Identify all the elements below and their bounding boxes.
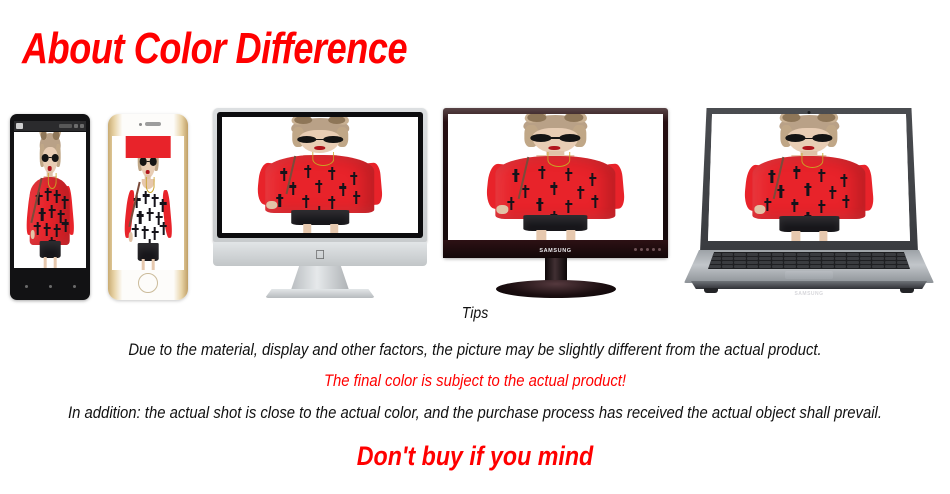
color-difference-banner: About Color Difference	[0, 0, 950, 494]
laptop-foot-right	[900, 288, 914, 293]
model-lips	[48, 166, 52, 170]
imac-screen	[222, 117, 418, 233]
model-figure	[746, 114, 871, 241]
control-button-2[interactable]	[640, 248, 643, 251]
page-title: About Color Difference	[22, 27, 407, 71]
iphone-screen	[112, 136, 184, 270]
imac-stand-neck	[291, 266, 349, 290]
laptop-trackpad[interactable]	[785, 271, 833, 279]
monitor-screen	[448, 114, 663, 240]
model-lips	[549, 146, 561, 150]
back-button-icon[interactable]	[73, 285, 76, 288]
notice-line-3: In addition: the actual shot is close to…	[48, 405, 903, 422]
model-figure	[126, 136, 171, 270]
product-photo	[222, 117, 418, 233]
laptop-keyboard[interactable]	[708, 252, 910, 269]
webcam-icon	[808, 111, 811, 114]
power-button[interactable]	[658, 248, 661, 251]
model-figure	[259, 117, 381, 233]
leather-skirt	[39, 241, 60, 259]
laptop-front-edge	[686, 281, 932, 289]
imac-screen-frame	[217, 112, 423, 238]
red-cross-top	[126, 136, 171, 158]
leather-skirt	[779, 216, 839, 233]
product-photo	[448, 114, 663, 240]
control-button-3[interactable]	[646, 248, 649, 251]
status-indicators	[59, 124, 84, 128]
imac-chin: 	[213, 242, 427, 266]
leather-skirt	[137, 243, 158, 260]
samsung-logo: SAMSUNG	[539, 248, 571, 254]
model-lips	[314, 146, 325, 150]
menu-button-icon[interactable]	[25, 285, 28, 288]
monitor-bezel: SAMSUNG	[443, 108, 668, 258]
phone-screen	[14, 132, 86, 268]
hair-bun-shade-right	[53, 132, 59, 140]
model-lips	[146, 170, 150, 174]
product-photo	[708, 114, 910, 241]
model-figure	[489, 114, 622, 240]
control-button-1[interactable]	[634, 248, 637, 251]
leather-skirt	[524, 215, 588, 231]
samsung-logo: SAMSUNG	[794, 291, 823, 297]
sunglasses-icon	[785, 134, 833, 142]
lens-right	[51, 154, 58, 162]
notice-line-1: Due to the material, display and other f…	[48, 342, 903, 359]
monitor-controls[interactable]	[634, 248, 661, 251]
leather-skirt	[291, 210, 349, 225]
device-imac: 	[213, 108, 427, 300]
device-samsung-laptop: SAMSUNG	[678, 108, 940, 300]
home-button[interactable]	[138, 273, 158, 293]
earpiece-speaker-icon	[145, 122, 161, 126]
phone-status-bar	[14, 121, 86, 131]
phone-nav-bar[interactable]	[14, 278, 86, 294]
sunglasses-icon	[530, 134, 581, 142]
glasses-bridge	[48, 157, 51, 158]
model-hand	[30, 230, 34, 240]
model-figure	[28, 132, 73, 268]
device-showcase-strip: 	[0, 104, 950, 300]
laptop-foot-left	[704, 288, 718, 293]
home-button-icon[interactable]	[49, 285, 52, 288]
front-camera-icon	[139, 123, 142, 126]
sunglasses-icon	[140, 157, 157, 165]
sunglasses-icon	[297, 136, 343, 143]
battery-icon	[80, 124, 84, 128]
control-button-4[interactable]	[652, 248, 655, 251]
imac-stand-foot	[265, 289, 375, 298]
leg-left	[44, 257, 47, 268]
product-photo	[14, 132, 86, 268]
device-xiaomi-phone	[10, 114, 90, 300]
device-samsung-monitor: SAMSUNG	[443, 108, 668, 300]
apple-logo-icon: 	[315, 248, 325, 261]
necklace-icon	[47, 173, 56, 189]
signal-icon	[59, 124, 72, 128]
laptop-screen	[708, 114, 910, 241]
notice-line-2: The final color is subject to the actual…	[48, 373, 903, 390]
leg-right	[54, 257, 57, 268]
mi-logo-icon	[16, 123, 23, 129]
model-lips	[803, 146, 814, 150]
device-iphone	[108, 114, 188, 300]
monitor-stand-base	[496, 280, 616, 298]
monitor-chin: SAMSUNG	[443, 240, 668, 258]
wifi-icon	[74, 124, 78, 128]
notice-line-4: Don't buy if you mind	[67, 443, 884, 470]
product-photo	[112, 136, 184, 270]
imac-bezel	[213, 108, 427, 242]
tips-label: Tips	[57, 306, 893, 322]
sunglasses-icon	[42, 154, 59, 162]
